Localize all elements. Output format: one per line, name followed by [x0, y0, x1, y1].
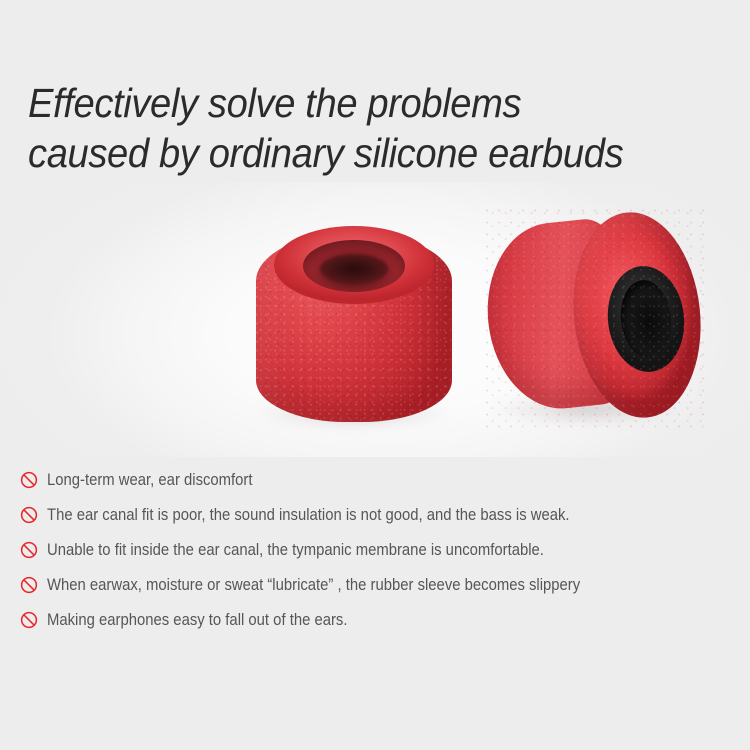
- list-item: The ear canal fit is poor, the sound ins…: [20, 497, 746, 532]
- issue-text: Making earphones easy to fall out of the…: [47, 610, 347, 630]
- issues-list: Long-term wear, ear discomfort The ear c…: [20, 462, 746, 637]
- issue-text: Long-term wear, ear discomfort: [47, 470, 253, 490]
- page-title: Effectively solve the problems caused by…: [28, 78, 728, 178]
- product-photo: [0, 182, 750, 457]
- prohibited-icon: [20, 506, 38, 524]
- prohibited-icon: [20, 541, 38, 559]
- prohibited-icon: [20, 611, 38, 629]
- prohibited-icon: [20, 576, 38, 594]
- list-item: Making earphones easy to fall out of the…: [20, 602, 746, 637]
- issue-text: Unable to fit inside the ear canal, the …: [47, 540, 544, 560]
- issue-text: The ear canal fit is poor, the sound ins…: [47, 505, 570, 525]
- left-bud-bore-interior: [320, 254, 388, 284]
- list-item: When earwax, moisture or sweat “lubricat…: [20, 567, 746, 602]
- headline-line-1: Effectively solve the problems: [28, 78, 679, 128]
- earbud-tip-side: [482, 204, 706, 432]
- prohibited-icon: [20, 471, 38, 489]
- issue-text: When earwax, moisture or sweat “lubricat…: [47, 575, 580, 595]
- earbud-tip-upright: [248, 210, 460, 425]
- headline-line-2: caused by ordinary silicone earbuds: [28, 128, 679, 178]
- list-item: Long-term wear, ear discomfort: [20, 462, 746, 497]
- product-feature-poster: Effectively solve the problems caused by…: [0, 0, 750, 750]
- list-item: Unable to fit inside the ear canal, the …: [20, 532, 746, 567]
